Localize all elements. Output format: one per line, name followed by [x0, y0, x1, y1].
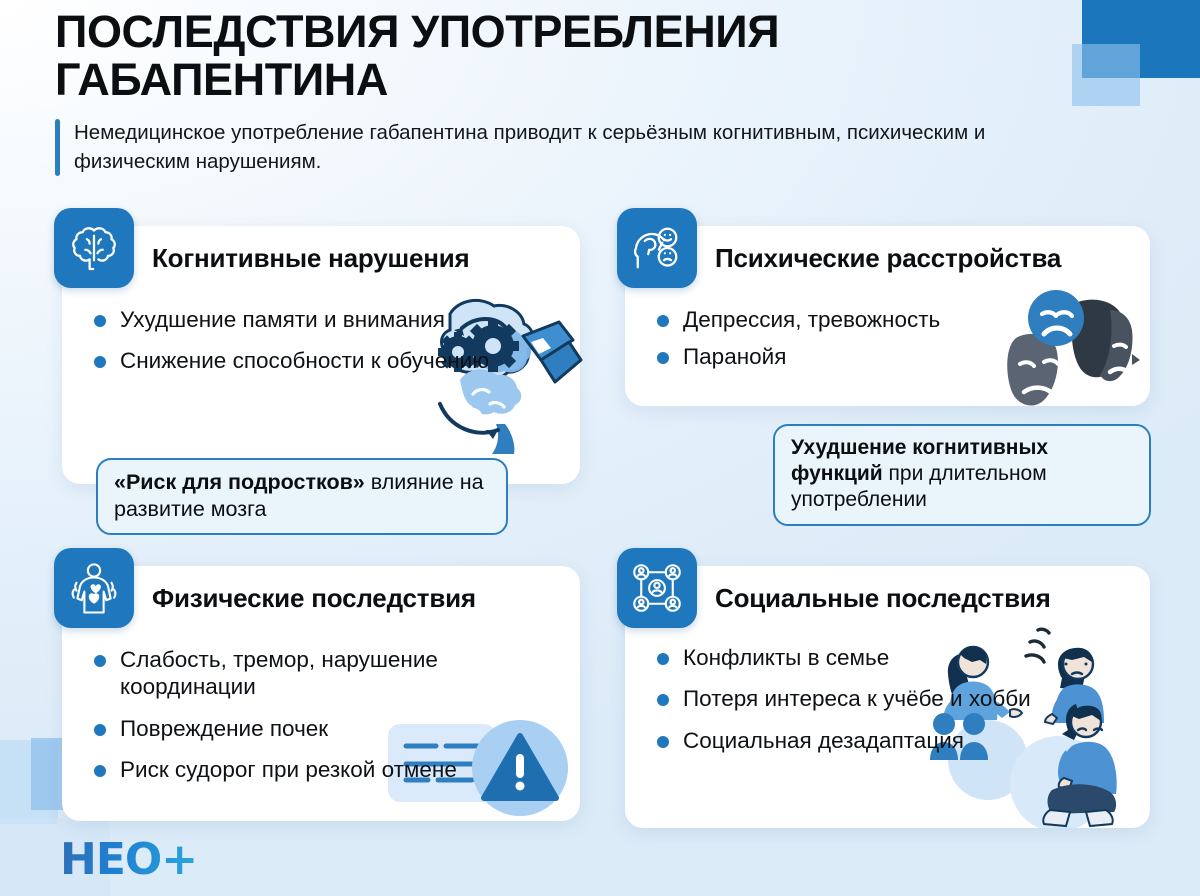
list-item-label: Слабость, тремор, нарушение координации [120, 647, 438, 699]
bullet-dot [94, 315, 106, 327]
list-item: Паранойя [651, 343, 1140, 370]
list-item: Слабость, тремор, нарушение координации [88, 646, 570, 701]
brain-icon [54, 208, 134, 288]
bullet-dot [657, 653, 669, 665]
card-title: Когнитивные нарушения [152, 244, 566, 273]
list-item-label: Риск судорог при резкой отмене [120, 757, 457, 782]
bullet-list: Депрессия, тревожность Паранойя [651, 306, 1140, 381]
bullet-dot [94, 655, 106, 667]
card-title: Физические последствия [152, 584, 566, 613]
bullet-dot [657, 315, 669, 327]
list-item-label: Снижение способности к обучению [120, 348, 489, 373]
bullet-list: Слабость, тремор, нарушение координации … [88, 646, 570, 798]
list-item-label: Депрессия, тревожность [683, 307, 940, 332]
bullet-list: Ухудшение памяти и внимания Снижение спо… [88, 306, 570, 389]
decorative-square-bottom-left-a [0, 740, 58, 824]
list-item: Снижение способности к обучению [88, 347, 570, 374]
brand-logo: НЕО+ [60, 838, 197, 882]
card-title: Психические расстройства [715, 244, 1136, 273]
page-background: ПОСЛЕДСТВИЯ УПОТРЕБЛЕНИЯ ГАБАПЕНТИНА Нем… [0, 0, 1200, 896]
list-item: Ухудшение памяти и внимания [88, 306, 570, 333]
list-item: Социальная дезадаптация [651, 727, 1140, 754]
bullet-dot [657, 352, 669, 364]
page-title: ПОСЛЕДСТВИЯ УПОТРЕБЛЕНИЯ ГАБАПЕНТИНА [55, 8, 1050, 103]
list-item-label: Потеря интереса к учёбе и хобби [683, 686, 1031, 711]
list-item: Конфликты в семье [651, 644, 1140, 671]
card-title: Социальные последствия [715, 584, 1136, 613]
header: ПОСЛЕДСТВИЯ УПОТРЕБЛЕНИЯ ГАБАПЕНТИНА Нем… [55, 8, 1050, 176]
list-item-label: Социальная дезадаптация [683, 728, 964, 753]
card-physical: Физические последствия Слабость, тремор,… [62, 566, 580, 821]
list-item: Риск судорог при резкой отмене [88, 756, 570, 783]
bullet-dot [657, 736, 669, 748]
body-organs-icon [54, 548, 134, 628]
subtitle-block: Немедицинское употребление габапентина п… [55, 119, 1050, 176]
list-item: Депрессия, тревожность [651, 306, 1140, 333]
bullet-list: Конфликты в семье Потеря интереса к учёб… [651, 644, 1140, 768]
list-item: Повреждение почек [88, 715, 570, 742]
callout-teen-risk: «Риск для подростков» влияние на развити… [96, 458, 508, 535]
list-item-label: Ухудшение памяти и внимания [120, 307, 445, 332]
card-cognitive: Когнитивные нарушения [62, 226, 580, 484]
list-item-label: Конфликты в семье [683, 645, 889, 670]
head-emotions-icon [617, 208, 697, 288]
card-social: Социальные последствия [625, 566, 1150, 828]
callout-bold-text: «Риск для подростков» [114, 470, 365, 494]
bullet-dot [94, 765, 106, 777]
card-mental: Психические расстройства Депрессия, трев… [625, 226, 1150, 406]
accent-bar [55, 119, 60, 176]
list-item-label: Повреждение почек [120, 716, 328, 741]
decorative-square-top-right-light [1072, 44, 1140, 106]
bullet-dot [657, 694, 669, 706]
callout-longterm-cognitive: Ухудшение когнитивных функций при длител… [773, 424, 1151, 526]
decorative-square-top-right-dark [1082, 0, 1200, 78]
list-item-label: Паранойя [683, 344, 786, 369]
bullet-dot [94, 724, 106, 736]
bullet-dot [94, 356, 106, 368]
people-network-icon [617, 548, 697, 628]
list-item: Потеря интереса к учёбе и хобби [651, 685, 1140, 712]
page-subtitle: Немедицинское употребление габапентина п… [74, 119, 1024, 176]
